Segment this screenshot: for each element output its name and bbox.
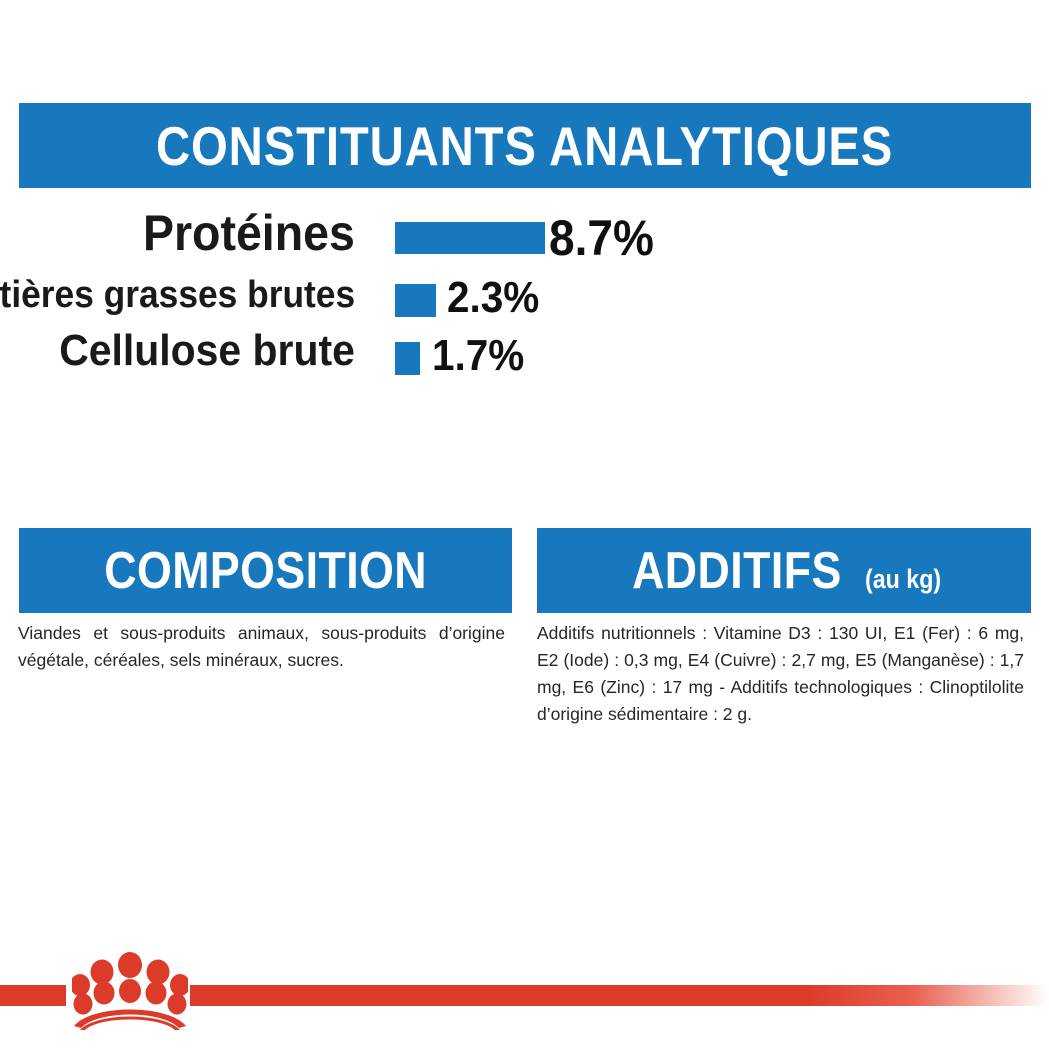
additives-subtitle: (au kg) — [865, 564, 941, 595]
nutrient-label-proteines: Protéines — [143, 208, 355, 258]
analytical-constituents-chart: Protéines 8.7% Matières grasses brutes 2… — [0, 200, 1049, 378]
nutrient-row: Matières grasses brutes 2.3% — [0, 262, 1049, 320]
additives-title: ADDITIFS — [632, 541, 842, 601]
nutrient-row: Cellulose brute 1.7% — [0, 320, 1049, 378]
composition-text: Viandes et sous-produits animaux, sous-p… — [18, 620, 505, 674]
analytical-constituents-title: CONSTITUANTS ANALYTIQUES — [156, 114, 893, 178]
nutrient-value-proteines: 8.7% — [549, 213, 654, 263]
nutrient-bar-cellulose-brute — [395, 342, 420, 375]
additives-title-row: ADDITIFS (au kg) — [615, 541, 953, 601]
red-rule-right — [190, 985, 1049, 1006]
nutrient-label-matieres-grasses-brutes: Matières grasses brutes — [0, 276, 355, 314]
nutrient-bar-proteines — [395, 222, 545, 254]
additives-text: Additifs nutritionnels : Vitamine D3 : 1… — [537, 620, 1024, 728]
red-rule-left — [0, 985, 66, 1006]
composition-banner: COMPOSITION — [19, 528, 512, 613]
royal-canin-crown-icon — [72, 952, 188, 1030]
nutrient-bar-matieres-grasses-brutes — [395, 284, 436, 317]
brand-footer — [0, 930, 1049, 1049]
additives-banner: ADDITIFS (au kg) — [537, 528, 1031, 613]
analytical-constituents-banner: CONSTITUANTS ANALYTIQUES — [19, 103, 1031, 188]
nutrient-value-matieres-grasses-brutes: 2.3% — [447, 276, 539, 320]
nutrient-label-cellulose-brute: Cellulose brute — [59, 329, 355, 373]
nutrient-row: Protéines 8.7% — [0, 200, 1049, 262]
composition-title: COMPOSITION — [104, 541, 427, 601]
nutrient-value-cellulose-brute: 1.7% — [432, 334, 524, 378]
